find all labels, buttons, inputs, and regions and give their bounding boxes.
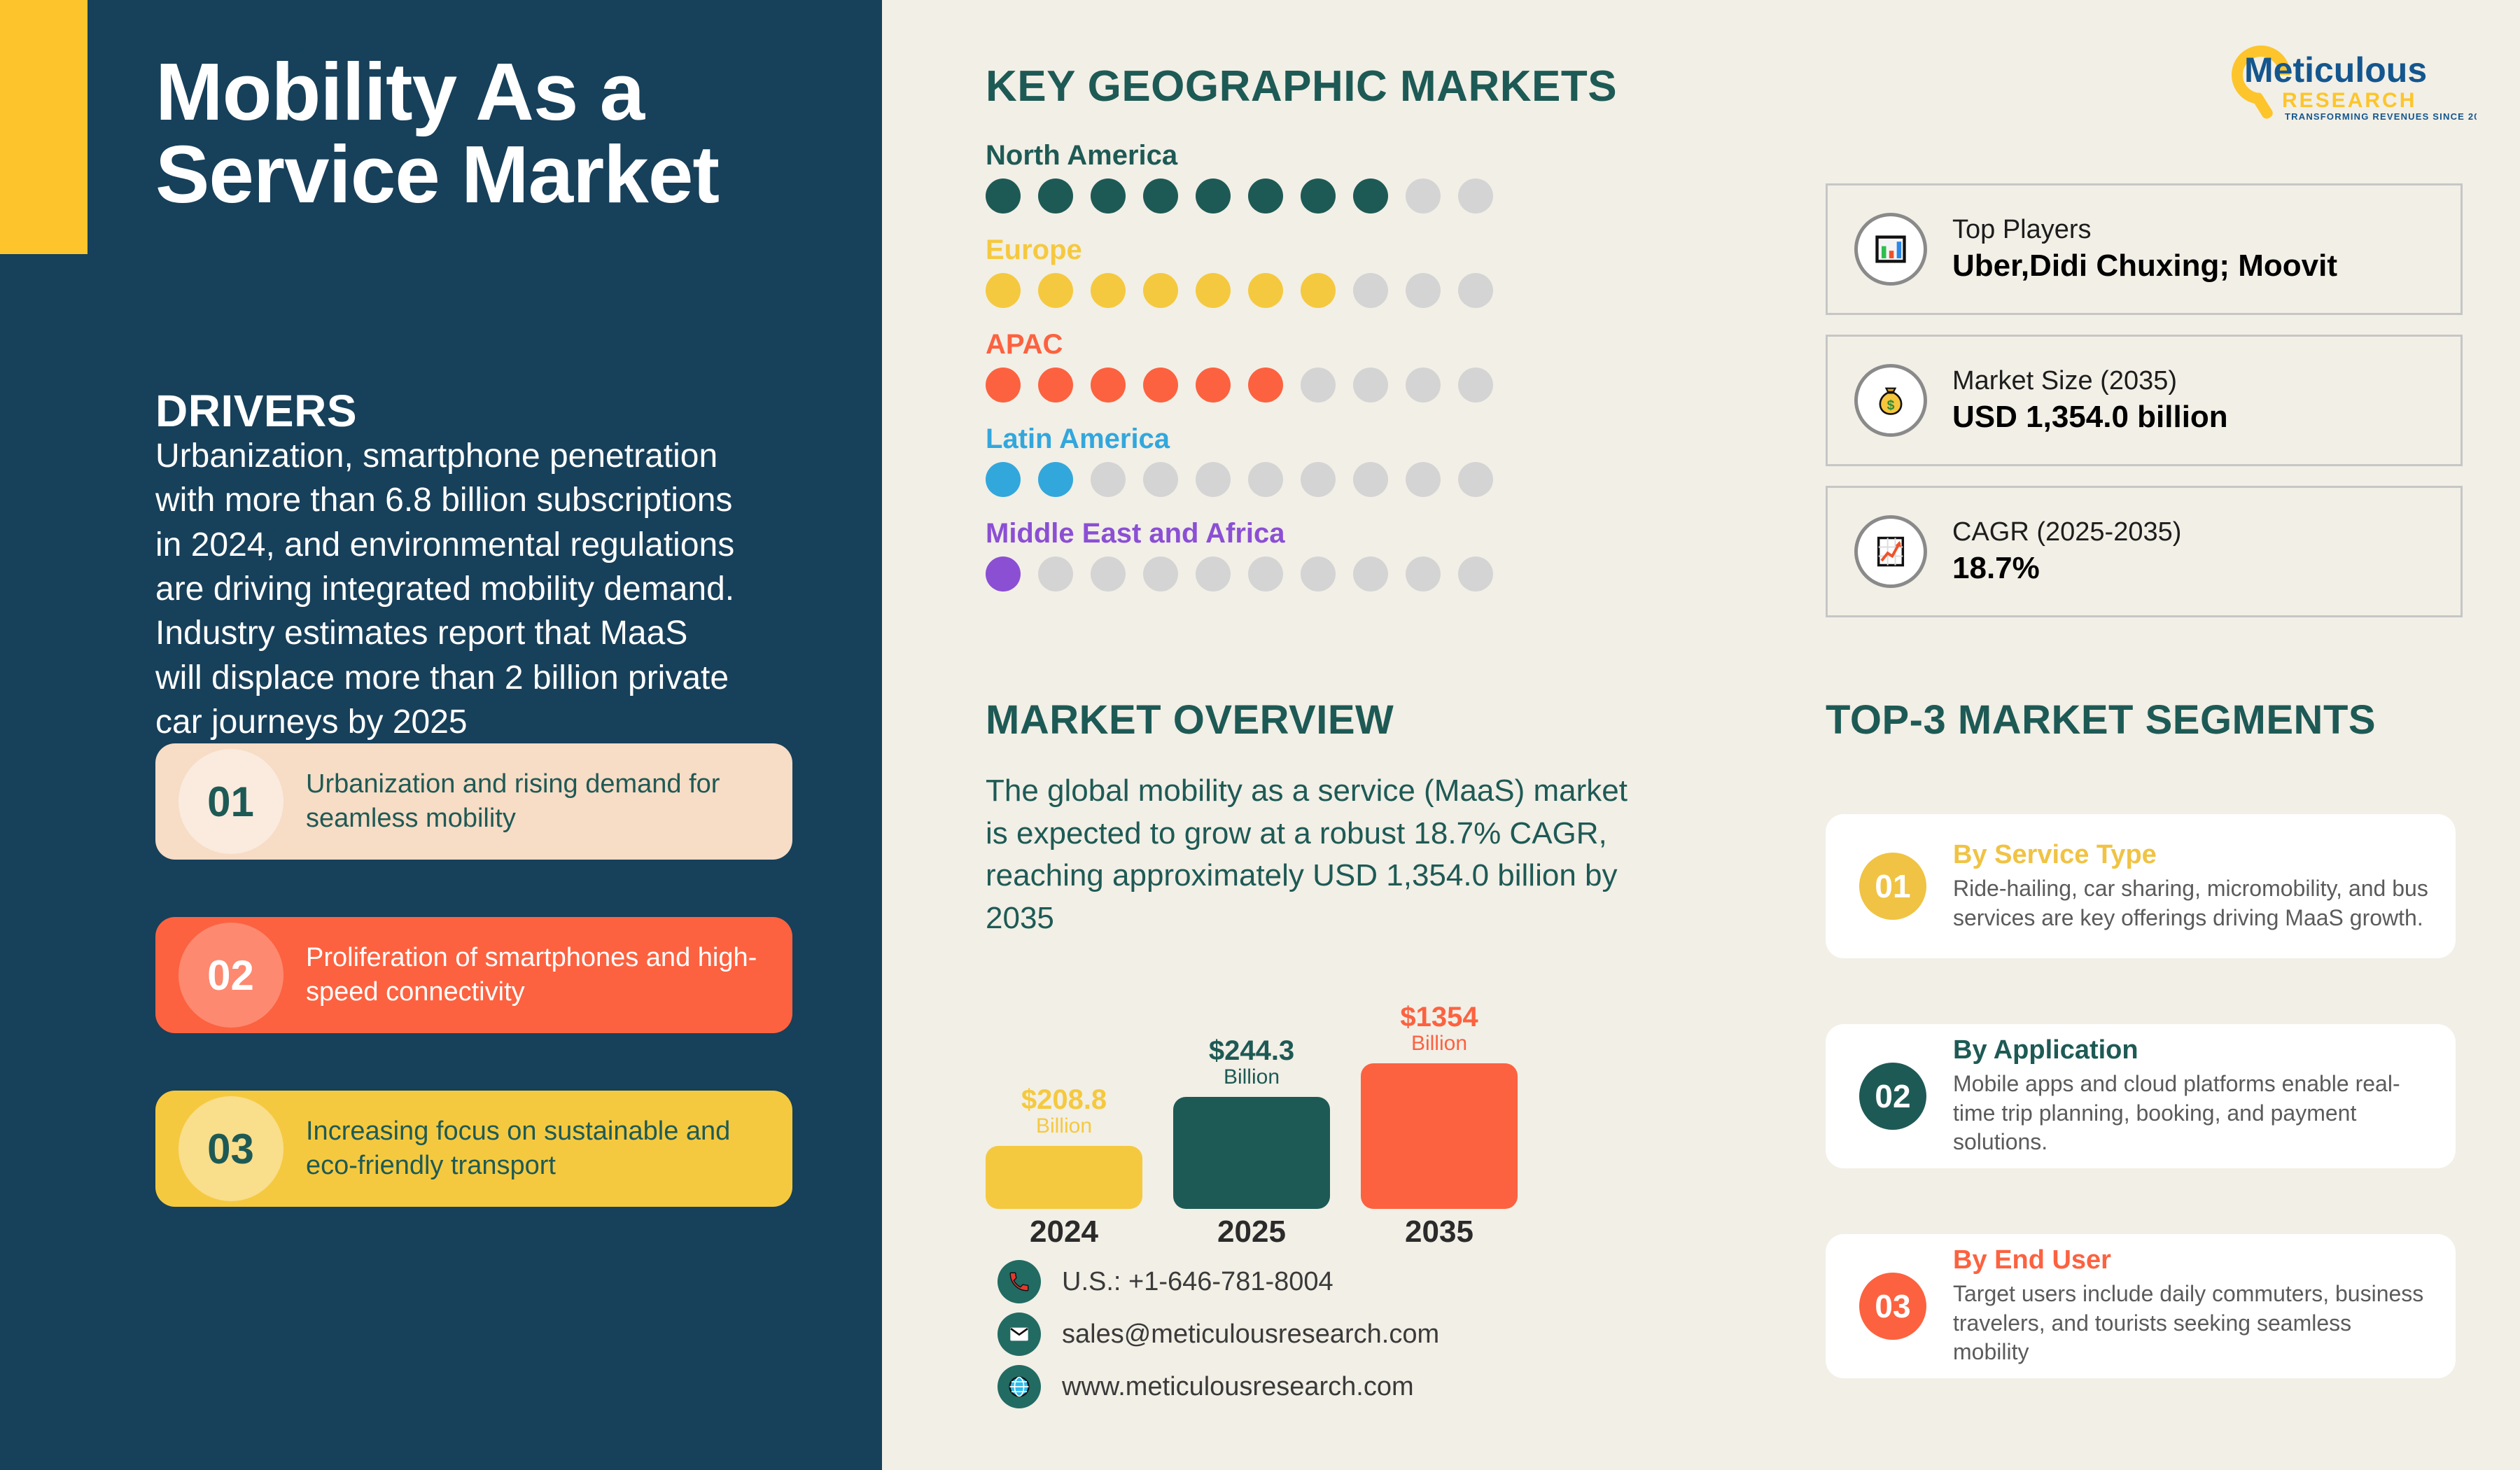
bar-chart-icon <box>1854 213 1927 286</box>
bar-value-label: $244.3 <box>1173 1036 1330 1065</box>
geo-dot-track <box>986 273 1518 308</box>
driver-number-wrap: 02 <box>155 917 306 1033</box>
geo-dot <box>1301 367 1336 402</box>
geo-dot <box>1248 556 1283 591</box>
drivers-body-text: Urbanization, smartphone penetration wit… <box>155 434 743 745</box>
geo-dot-track <box>986 462 1518 497</box>
geo-dot <box>1248 178 1283 213</box>
segment-body: By Service Type Ride-hailing, car sharin… <box>1953 840 2456 932</box>
geo-dot <box>986 367 1021 402</box>
left-panel: Mobility As a Service Market DRIVERS Urb… <box>0 0 882 1470</box>
segment-body: By Application Mobile apps and cloud pla… <box>1953 1035 2456 1157</box>
contact-website-text: www.meticulousresearch.com <box>1062 1372 1414 1402</box>
segment-card: 01 By Service Type Ride-hailing, car sha… <box>1826 814 2456 958</box>
segment-badge: 03 <box>1859 1273 1926 1340</box>
geo-dot-track <box>986 367 1518 402</box>
stat-value: 18.7% <box>1952 549 2181 587</box>
stat-card-top-players: Top Players Uber,Didi Chuxing; Moovit <box>1826 183 2463 315</box>
geo-dot <box>1406 462 1441 497</box>
geographic-markets-heading: KEY GEOGRAPHIC MARKETS <box>986 62 1617 111</box>
geo-dot <box>1143 367 1178 402</box>
geo-dot-track <box>986 556 1518 591</box>
segment-title: By Application <box>1953 1035 2432 1065</box>
geo-dot <box>986 273 1021 308</box>
contact-website-row[interactable]: www.meticulousresearch.com <box>997 1365 1414 1408</box>
meticulous-research-logo: Meticulous RESEARCH TRANSFORMING REVENUE… <box>2218 38 2477 126</box>
geo-region-label: Middle East and Africa <box>986 518 1518 549</box>
segment-body: By End User Target users include daily c… <box>1953 1245 2456 1367</box>
geo-dot <box>1458 273 1493 308</box>
bar-column: $1354 Billion <box>1361 1002 1518 1209</box>
segment-card: 03 By End User Target users include dail… <box>1826 1234 2456 1378</box>
logo-primary-text: Meticulous <box>2244 50 2427 90</box>
phone-icon <box>997 1260 1041 1303</box>
geo-dot <box>1353 556 1388 591</box>
geo-region-label: Latin America <box>986 423 1518 455</box>
segment-description: Target users include daily commuters, bu… <box>1953 1280 2432 1367</box>
geo-region-row: Latin America <box>986 423 1518 497</box>
drivers-heading: DRIVERS <box>155 385 357 437</box>
market-segments-heading: TOP-3 MARKET SEGMENTS <box>1826 696 2376 743</box>
svg-text:$: $ <box>1887 398 1895 413</box>
geo-region-row: Middle East and Africa <box>986 518 1518 591</box>
geo-dot <box>1248 462 1283 497</box>
stat-label: Market Size (2035) <box>1952 365 2228 398</box>
driver-number: 01 <box>207 778 254 826</box>
email-icon <box>997 1312 1041 1356</box>
market-size-bar-chart: $208.8 Billion 2024 $244.3 Billion 2025 … <box>986 948 1539 1249</box>
growth-chart-icon <box>1854 515 1927 588</box>
bar-column: $208.8 Billion <box>986 1085 1142 1209</box>
driver-text: Proliferation of smartphones and high-sp… <box>306 941 792 1009</box>
segment-badge: 01 <box>1859 853 1926 920</box>
driver-number-wrap: 01 <box>155 743 306 860</box>
bar-value-label: $208.8 <box>986 1085 1142 1114</box>
geo-dot <box>1458 178 1493 213</box>
contact-email-text: sales@meticulousresearch.com <box>1062 1319 1439 1350</box>
geo-dot <box>1196 273 1231 308</box>
geo-dot <box>1458 367 1493 402</box>
driver-text: Increasing focus on sustainable and eco-… <box>306 1114 792 1182</box>
stat-card-market-size: $ Market Size (2035) USD 1,354.0 billion <box>1826 335 2463 466</box>
geo-dot <box>1248 367 1283 402</box>
segment-description: Ride-hailing, car sharing, micromobility… <box>1953 874 2432 932</box>
geo-dot <box>1353 178 1388 213</box>
geo-dot <box>1091 462 1126 497</box>
geo-region-row: Europe <box>986 234 1518 308</box>
market-overview-text: The global mobility as a service (MaaS) … <box>986 770 1644 940</box>
geo-dot <box>1196 462 1231 497</box>
stat-value: USD 1,354.0 billion <box>1952 398 2228 436</box>
contact-email-row[interactable]: sales@meticulousresearch.com <box>997 1312 1439 1356</box>
geo-dot <box>1458 462 1493 497</box>
geo-dot <box>1248 273 1283 308</box>
stat-label: Top Players <box>1952 213 2337 247</box>
logo-tagline: TRANSFORMING REVENUES SINCE 2010 <box>2285 111 2477 122</box>
page-title: Mobility As a Service Market <box>155 50 841 216</box>
geo-region-label: APAC <box>986 329 1518 360</box>
bar-rect <box>1361 1063 1518 1209</box>
stat-value: Uber,Didi Chuxing; Moovit <box>1952 246 2337 285</box>
geo-dot <box>1091 556 1126 591</box>
bar-value-label: $1354 <box>1361 1002 1518 1032</box>
geo-dot <box>986 462 1021 497</box>
bar-unit-label: Billion <box>986 1114 1142 1137</box>
geo-region-label: North America <box>986 140 1518 171</box>
bar-category-label: 2025 <box>1173 1214 1330 1249</box>
stat-label: CAGR (2025-2035) <box>1952 516 2181 549</box>
bar-category-label: 2024 <box>986 1214 1142 1249</box>
segment-badge: 02 <box>1859 1063 1926 1130</box>
geo-dot <box>1301 556 1336 591</box>
geo-dot <box>1196 556 1231 591</box>
bar-rect <box>1173 1097 1330 1209</box>
geo-dot <box>1301 273 1336 308</box>
market-overview-heading: MARKET OVERVIEW <box>986 696 1394 743</box>
logo-secondary-text: RESEARCH <box>2282 89 2416 112</box>
segment-description: Mobile apps and cloud platforms enable r… <box>1953 1070 2432 1157</box>
geo-dot <box>1143 462 1178 497</box>
geo-dot <box>1353 367 1388 402</box>
geo-dot <box>1038 178 1073 213</box>
geo-dot <box>1091 273 1126 308</box>
geo-dot <box>1301 462 1336 497</box>
driver-text: Urbanization and rising demand for seaml… <box>306 767 792 835</box>
money-bag-icon: $ <box>1854 364 1927 437</box>
bar-category-label: 2035 <box>1361 1214 1518 1249</box>
globe-icon <box>997 1365 1041 1408</box>
geo-dot <box>1353 273 1388 308</box>
geo-dot <box>1038 273 1073 308</box>
geo-region-label: Europe <box>986 234 1518 266</box>
geo-dot <box>1038 462 1073 497</box>
geo-dot <box>1143 556 1178 591</box>
geo-region-row: APAC <box>986 329 1518 402</box>
bar-column: $244.3 Billion <box>1173 1036 1330 1209</box>
driver-number: 03 <box>207 1125 254 1173</box>
geo-dot <box>1196 367 1231 402</box>
geo-dot <box>1143 178 1178 213</box>
driver-number-wrap: 03 <box>155 1091 306 1207</box>
geo-dot <box>1406 273 1441 308</box>
driver-card: 02 Proliferation of smartphones and high… <box>155 917 792 1033</box>
geo-dot <box>1458 556 1493 591</box>
contact-phone-row[interactable]: U.S.: +1-646-781-8004 <box>997 1260 1333 1303</box>
geo-dot <box>1038 556 1073 591</box>
segment-card: 02 By Application Mobile apps and cloud … <box>1826 1024 2456 1168</box>
driver-card: 01 Urbanization and rising demand for se… <box>155 743 792 860</box>
geo-dot <box>1353 462 1388 497</box>
bar-unit-label: Billion <box>1361 1032 1518 1055</box>
driver-card: 03 Increasing focus on sustainable and e… <box>155 1091 792 1207</box>
geo-dot <box>1091 178 1126 213</box>
geo-dot <box>986 178 1021 213</box>
geo-dot <box>1406 556 1441 591</box>
geo-dot-track <box>986 178 1518 213</box>
geo-dot <box>1091 367 1126 402</box>
geo-dot <box>1406 367 1441 402</box>
geo-dot <box>1143 273 1178 308</box>
segment-title: By Service Type <box>1953 840 2432 870</box>
bar-rect <box>986 1146 1142 1209</box>
stat-card-cagr: CAGR (2025-2035) 18.7% <box>1826 486 2463 617</box>
contact-phone-text: U.S.: +1-646-781-8004 <box>1062 1267 1333 1297</box>
geo-dot <box>1301 178 1336 213</box>
geo-dot <box>1406 178 1441 213</box>
driver-number: 02 <box>207 951 254 1000</box>
geo-dot <box>1038 367 1073 402</box>
segment-title: By End User <box>1953 1245 2432 1275</box>
geo-dot <box>986 556 1021 591</box>
geo-region-row: North America <box>986 140 1518 213</box>
geo-dot <box>1196 178 1231 213</box>
accent-bar <box>0 0 87 254</box>
bar-unit-label: Billion <box>1173 1065 1330 1088</box>
